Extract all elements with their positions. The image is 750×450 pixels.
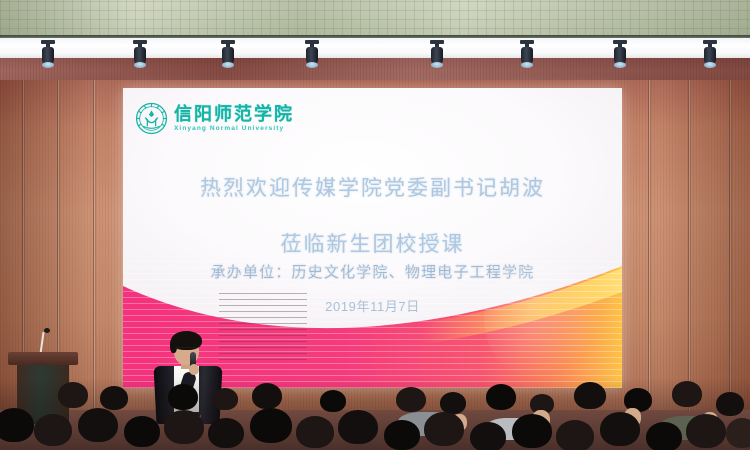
audience-head bbox=[686, 414, 726, 448]
audience-head bbox=[716, 392, 744, 416]
audience-head bbox=[320, 390, 346, 412]
audience-head bbox=[470, 422, 506, 450]
audience-head bbox=[212, 388, 238, 410]
track-spotlight bbox=[304, 40, 320, 70]
audience-head bbox=[296, 416, 334, 448]
banner-headline: 热烈欢迎传媒学院党委副书记胡波 莅临新生团校授课 bbox=[123, 172, 622, 258]
track-spotlight bbox=[220, 40, 236, 70]
lecture-hall-photo: 信阳师范学院 Xinyang Normal University 热烈欢迎传媒学… bbox=[0, 0, 750, 450]
track-spotlight bbox=[40, 40, 56, 70]
audience bbox=[0, 378, 750, 450]
wave-highlight-circle bbox=[484, 260, 604, 380]
audience-head bbox=[574, 382, 606, 409]
presenter-hand bbox=[189, 364, 199, 375]
audience-head bbox=[208, 418, 244, 448]
audience-head bbox=[512, 414, 552, 448]
audience-head bbox=[34, 414, 72, 446]
ceiling-shading bbox=[0, 0, 750, 38]
university-logo: 信阳师范学院 Xinyang Normal University bbox=[135, 102, 294, 135]
audience-head bbox=[486, 384, 516, 410]
podium-microphone-head-icon bbox=[44, 328, 50, 333]
audience-head bbox=[646, 422, 682, 450]
audience-head bbox=[726, 418, 750, 448]
audience-head bbox=[338, 410, 378, 444]
university-name-en: Xinyang Normal University bbox=[174, 126, 294, 133]
audience-head bbox=[384, 420, 420, 450]
audience-head bbox=[250, 408, 292, 443]
audience-head bbox=[124, 416, 160, 447]
audience-head bbox=[556, 420, 594, 450]
track-spotlight bbox=[519, 40, 535, 70]
track-spotlight bbox=[429, 40, 445, 70]
audience-head bbox=[396, 387, 426, 412]
audience-head bbox=[100, 386, 128, 410]
audience-head bbox=[164, 410, 204, 444]
audience-head bbox=[0, 408, 34, 442]
track-spotlight bbox=[132, 40, 148, 70]
audience-head bbox=[58, 382, 88, 408]
audience-head bbox=[168, 384, 198, 410]
audience-head bbox=[672, 381, 702, 407]
university-emblem-icon bbox=[135, 102, 168, 135]
headline-line-2: 莅临新生团校授课 bbox=[123, 228, 622, 258]
audience-head bbox=[440, 392, 466, 414]
university-name-cn: 信阳师范学院 bbox=[174, 105, 294, 123]
audience-head bbox=[424, 412, 464, 446]
audience-head bbox=[252, 383, 282, 409]
audience-head bbox=[78, 408, 118, 442]
track-spotlight bbox=[702, 40, 718, 70]
event-date: 2019年11月7日 bbox=[123, 296, 622, 315]
headline-line-1: 热烈欢迎传媒学院党委副书记胡波 bbox=[123, 172, 622, 202]
audience-head bbox=[600, 412, 640, 446]
light-cove-soffit bbox=[0, 38, 750, 60]
podium-top bbox=[8, 352, 78, 365]
track-spotlight bbox=[612, 40, 628, 70]
